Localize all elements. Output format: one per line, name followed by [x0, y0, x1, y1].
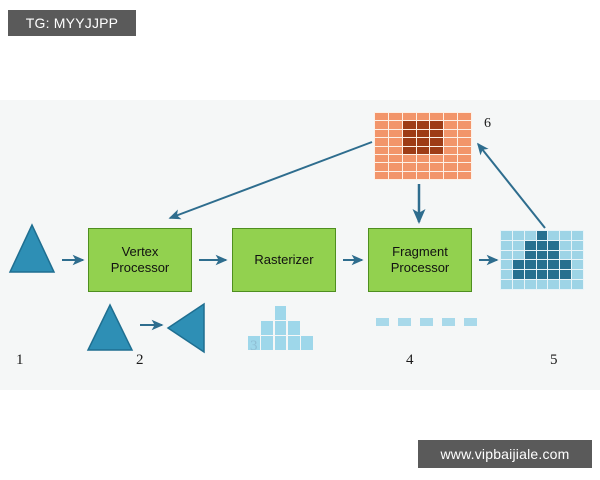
stage-box-fragment-processor[interactable]: Fragment Processor — [368, 228, 472, 292]
raster-pixel — [275, 321, 287, 335]
framebuffer-cell — [525, 260, 536, 269]
raster-pixel — [314, 336, 326, 350]
framebuffer-cell — [525, 270, 536, 279]
texture-cell — [430, 113, 443, 120]
texture-cell — [403, 113, 416, 120]
texture-cell — [403, 138, 416, 145]
texture-cell — [389, 130, 402, 137]
texture-cell — [403, 172, 416, 179]
texture-cell — [417, 138, 430, 145]
framebuffer-cell — [548, 280, 559, 289]
texture-cell — [444, 163, 457, 170]
texture-cell — [389, 147, 402, 154]
texture-cell — [444, 121, 457, 128]
framebuffer-cell — [560, 241, 571, 250]
framebuffer-cell — [548, 241, 559, 250]
raster-pixel — [314, 321, 326, 335]
framebuffer-cell — [560, 251, 571, 260]
fragment-dash — [376, 318, 389, 326]
raster-pixel — [288, 321, 300, 335]
raster-pixel — [261, 321, 273, 335]
texture-cell — [375, 155, 388, 162]
framebuffer-cell — [501, 241, 512, 250]
texture-cell — [389, 155, 402, 162]
texture-cell — [430, 147, 443, 154]
framebuffer-cell — [501, 260, 512, 269]
texture-cell — [458, 130, 471, 137]
step-label-1: 1 — [16, 352, 24, 369]
texture-cell — [430, 130, 443, 137]
fragment-dash — [464, 318, 477, 326]
fragments-glyph — [376, 318, 472, 330]
framebuffer-cell — [537, 270, 548, 279]
texture-cell — [417, 113, 430, 120]
texture-cell — [403, 121, 416, 128]
fragment-dash — [420, 318, 433, 326]
framebuffer-cell — [537, 260, 548, 269]
framebuffer-cell — [572, 260, 583, 269]
raster-pixel — [301, 306, 313, 320]
framebuffer-cell — [501, 270, 512, 279]
raster-pixel — [301, 336, 313, 350]
texture-cell — [430, 163, 443, 170]
framebuffer-cell — [572, 280, 583, 289]
texture-cell — [444, 138, 457, 145]
framebuffer-cell — [548, 270, 559, 279]
texture-cell — [375, 147, 388, 154]
texture-cell — [458, 163, 471, 170]
texture-cell — [444, 147, 457, 154]
triangle-before-transform-icon — [88, 305, 132, 350]
texture-cell — [417, 163, 430, 170]
raster-pixel — [261, 306, 273, 320]
raster-pixel — [288, 306, 300, 320]
step-label-5: 5 — [550, 352, 558, 369]
stage-box-vertex-processor[interactable]: Vertex Processor — [88, 228, 192, 292]
input-triangle-icon — [10, 225, 54, 272]
stage-box-rasterizer[interactable]: Rasterizer — [232, 228, 336, 292]
texture-cell — [430, 121, 443, 128]
texture-cell — [417, 155, 430, 162]
framebuffer-cell — [560, 280, 571, 289]
texture-cell — [430, 138, 443, 145]
framebuffer-cell — [525, 251, 536, 260]
stage-label-vertex-processor: Vertex Processor — [111, 244, 170, 277]
raster-pixel — [248, 321, 260, 335]
watermark-bottom: www.vipbaijiale.com — [418, 440, 592, 468]
framebuffer-cell — [525, 241, 536, 250]
raster-pixel — [288, 336, 300, 350]
framebuffer-cell — [548, 260, 559, 269]
raster-pixel — [275, 306, 287, 320]
arrow-framebuffer-to-texture — [478, 144, 545, 228]
texture-cell — [417, 130, 430, 137]
raster-pixel — [301, 321, 313, 335]
step-label-3: 3 — [250, 338, 258, 355]
texture-cell — [403, 130, 416, 137]
step-label-6: 6 — [484, 116, 491, 132]
texture-cell — [389, 113, 402, 120]
framebuffer-cell — [513, 270, 524, 279]
framebuffer-cell — [537, 280, 548, 289]
texture-cell — [403, 163, 416, 170]
diagram-canvas: Vertex Processor Rasterizer Fragment Pro… — [0, 100, 600, 390]
texture-cell — [417, 121, 430, 128]
texture-cell — [375, 163, 388, 170]
framebuffer-cell — [513, 280, 524, 289]
framebuffer-cell — [525, 231, 536, 240]
framebuffer-cell — [513, 241, 524, 250]
texture-cell — [458, 121, 471, 128]
stage-label-rasterizer: Rasterizer — [254, 252, 313, 268]
framebuffer-cell — [513, 231, 524, 240]
fragment-dash — [398, 318, 411, 326]
fragment-dash — [442, 318, 455, 326]
texture-cell — [389, 172, 402, 179]
framebuffer-cell — [560, 270, 571, 279]
texture-cell — [375, 121, 388, 128]
framebuffer-cell — [572, 251, 583, 260]
texture-cell — [444, 113, 457, 120]
texture-cell — [444, 172, 457, 179]
step-label-4: 4 — [406, 352, 414, 369]
framebuffer-cell — [513, 260, 524, 269]
texture-cell — [417, 147, 430, 154]
texture-cell — [458, 138, 471, 145]
framebuffer-cell — [560, 231, 571, 240]
framebuffer-cell — [548, 231, 559, 240]
framebuffer-grid — [500, 230, 584, 290]
texture-cell — [389, 121, 402, 128]
texture-cell — [375, 130, 388, 137]
texture-cell — [444, 130, 457, 137]
texture-cell — [389, 163, 402, 170]
arrow-texture-to-vertex — [170, 142, 372, 218]
framebuffer-cell — [560, 260, 571, 269]
framebuffer-cell — [537, 231, 548, 240]
texture-cell — [430, 155, 443, 162]
texture-cell — [417, 172, 430, 179]
texture-cell — [458, 147, 471, 154]
framebuffer-cell — [537, 241, 548, 250]
texture-cell — [403, 147, 416, 154]
framebuffer-cell — [572, 241, 583, 250]
raster-pixel — [261, 336, 273, 350]
texture-cell — [375, 172, 388, 179]
watermark-top: TG: MYYJJPP — [8, 10, 136, 36]
raster-pixel — [248, 306, 260, 320]
framebuffer-cell — [572, 270, 583, 279]
diagram-page: TG: MYYJJPP — [0, 0, 600, 480]
texture-cell — [403, 155, 416, 162]
framebuffer-cell — [537, 251, 548, 260]
texture-cell — [430, 172, 443, 179]
texture-cell — [458, 113, 471, 120]
texture-cell — [375, 138, 388, 145]
stage-label-fragment-processor: Fragment Processor — [391, 244, 450, 277]
framebuffer-cell — [513, 251, 524, 260]
step-label-2: 2 — [136, 352, 144, 369]
texture-cell — [458, 155, 471, 162]
texture-cell — [458, 172, 471, 179]
texture-cell — [444, 155, 457, 162]
texture-memory-grid — [374, 112, 472, 180]
framebuffer-cell — [572, 231, 583, 240]
framebuffer-cell — [501, 231, 512, 240]
framebuffer-cell — [501, 251, 512, 260]
rasterized-pixels-glyph — [248, 306, 326, 350]
texture-cell — [375, 113, 388, 120]
triangle-after-transform-icon — [168, 304, 204, 352]
texture-cell — [389, 138, 402, 145]
framebuffer-cell — [501, 280, 512, 289]
raster-pixel — [314, 306, 326, 320]
raster-pixel — [275, 336, 287, 350]
framebuffer-cell — [548, 251, 559, 260]
framebuffer-cell — [525, 280, 536, 289]
